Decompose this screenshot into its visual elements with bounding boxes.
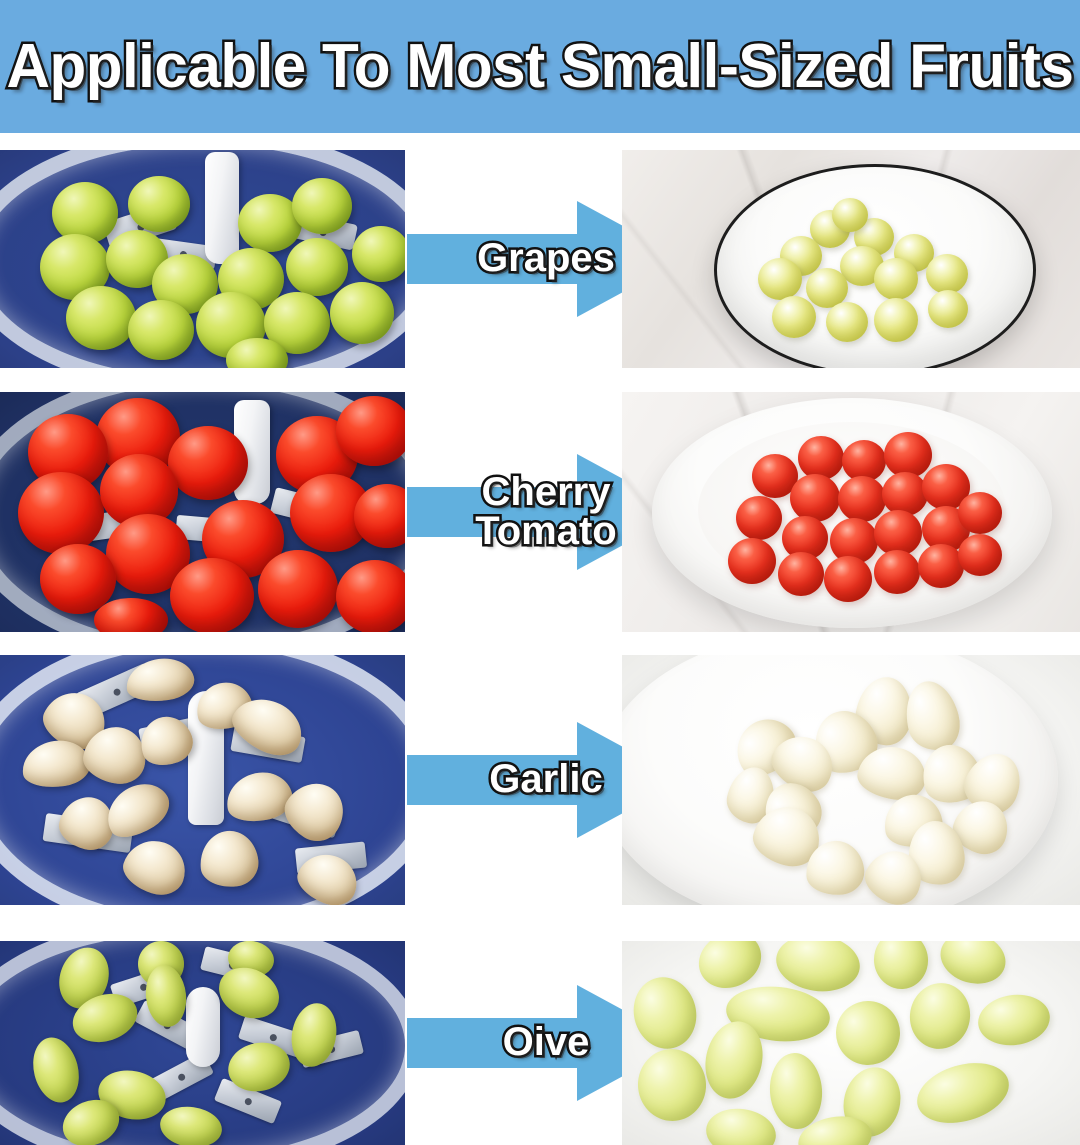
- peeled-cherry-tomato: [882, 472, 928, 516]
- garlic-in-peeler-scene: [0, 655, 405, 905]
- grape: [66, 286, 136, 350]
- peeled-cherry-tomato: [736, 496, 782, 540]
- peeled-olives-scene: [622, 941, 1080, 1145]
- row-olive: Oive: [0, 941, 1080, 1145]
- peeled-grape: [826, 302, 868, 342]
- grape: [128, 300, 194, 360]
- cherry-tomato: [258, 550, 338, 628]
- arrow-label-grapes: Grapes: [477, 239, 615, 278]
- grape: [292, 178, 352, 234]
- grape: [330, 282, 394, 344]
- cherry-tomato: [18, 472, 104, 554]
- grapes-in-peeler-scene: [0, 150, 405, 368]
- cherry-tomato: [170, 558, 254, 632]
- peeled-cherry-tomato: [790, 474, 840, 522]
- before-image-garlic: [0, 655, 405, 905]
- arrow-label-olive: Oive: [503, 1023, 590, 1062]
- peeled-cherry-tomato: [728, 538, 776, 584]
- peeled-cherry-tomato: [874, 550, 920, 594]
- grape: [128, 176, 190, 232]
- after-image-cherry-tomato: [622, 392, 1080, 632]
- peeled-grape: [832, 198, 868, 232]
- tomatoes-in-peeler-scene: [0, 392, 405, 632]
- peeled-grape: [926, 254, 968, 294]
- peeled-grapes-scene: [622, 150, 1080, 368]
- row-garlic: Garlic: [0, 655, 1080, 905]
- row-grapes: Grapes: [0, 150, 1080, 368]
- peeler-center-post: [205, 152, 239, 264]
- peeled-grape: [772, 296, 816, 338]
- header-banner: Applicable To Most Small-Sized Fruits: [0, 0, 1080, 133]
- arrow-label-cherry-tomato: Cherry Tomato: [475, 473, 616, 551]
- peeled-grape: [928, 290, 968, 328]
- cherry-tomato: [336, 396, 405, 466]
- peeled-cherry-tomato: [884, 432, 932, 478]
- before-image-olive: [0, 941, 405, 1145]
- page-title: Applicable To Most Small-Sized Fruits: [7, 31, 1074, 102]
- before-image-grapes: [0, 150, 405, 368]
- peeler-center-post: [186, 987, 220, 1067]
- peeled-cherry-tomato: [958, 534, 1002, 576]
- peeled-grape: [758, 258, 802, 300]
- before-image-cherry-tomato: [0, 392, 405, 632]
- after-image-garlic: [622, 655, 1080, 905]
- peeled-cherry-tomato: [798, 436, 844, 480]
- peeled-cherry-tomato: [778, 552, 824, 596]
- grape: [286, 238, 348, 296]
- cherry-tomato: [336, 560, 405, 632]
- peeled-tomatoes-scene: [622, 392, 1080, 632]
- peeled-grape: [874, 298, 918, 342]
- peeled-cherry-tomato: [838, 476, 886, 522]
- peeled-cherry-tomato: [918, 544, 964, 588]
- peeled-cherry-tomato: [824, 556, 872, 602]
- after-image-olive: [622, 941, 1080, 1145]
- after-image-grapes: [622, 150, 1080, 368]
- cherry-tomato: [168, 426, 248, 500]
- arrow-label-garlic: Garlic: [489, 760, 602, 799]
- row-cherry-tomato: Cherry Tomato: [0, 392, 1080, 632]
- peeled-grape: [874, 258, 918, 300]
- olives-in-peeler-scene: [0, 941, 405, 1145]
- peeled-garlic-scene: [622, 655, 1080, 905]
- grape: [352, 226, 405, 282]
- peeled-cherry-tomato: [958, 492, 1002, 534]
